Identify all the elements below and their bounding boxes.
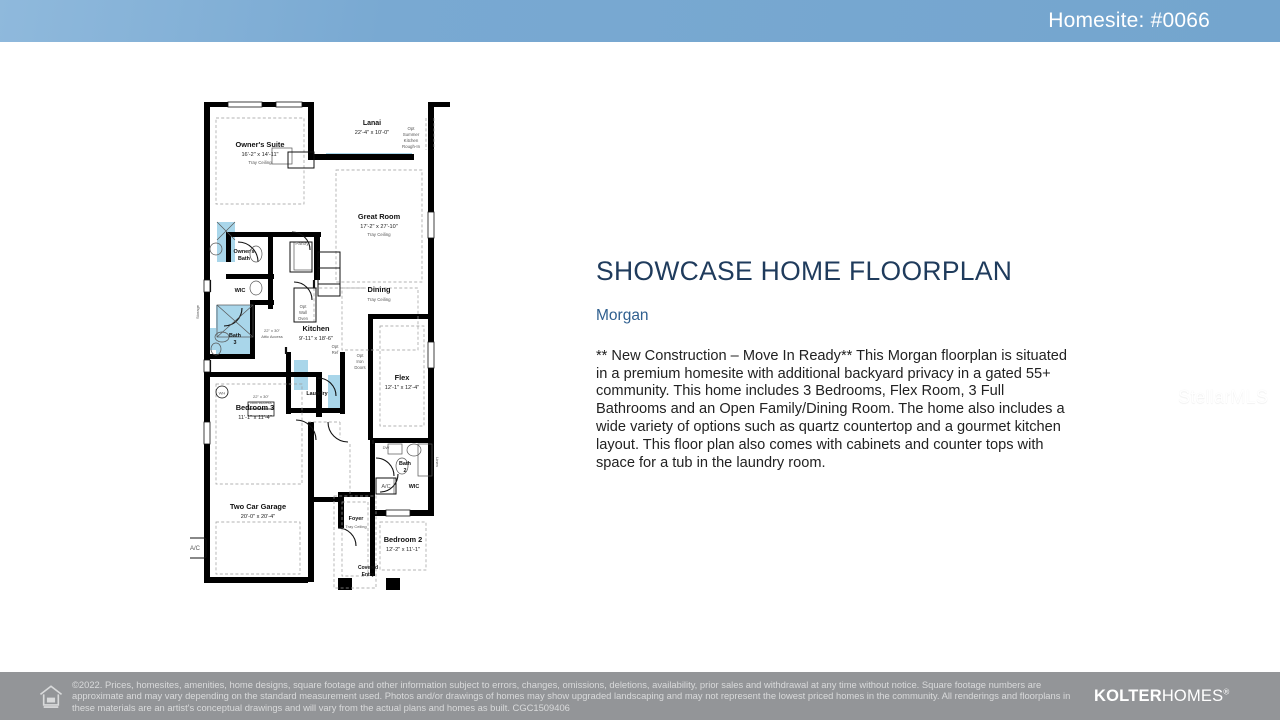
linen-label: Linen bbox=[435, 457, 440, 467]
kolter-homes-logo: KOLTERHOMES® bbox=[1094, 687, 1229, 706]
opt-iron-doors-line1: Opt bbox=[357, 353, 365, 358]
footer-bar: ©2022. Prices, homesites, amenities, hom… bbox=[0, 672, 1280, 720]
room-label-bath2-line1: Bath bbox=[399, 461, 411, 467]
opt-iron-doors-line2: Iron bbox=[356, 359, 364, 364]
room-label-flex: Flex bbox=[395, 373, 411, 382]
room-label-kitchen: Kitchen bbox=[302, 324, 330, 333]
floorplan-info-panel: SHOWCASE HOME FLOORPLAN Morgan ** New Co… bbox=[596, 257, 1086, 472]
room-label-two-car-garage: Two Car Garage bbox=[230, 502, 286, 511]
dw-label: DW bbox=[383, 445, 390, 450]
opt-wall-oven-line1: Opt bbox=[300, 304, 308, 309]
slide-stage: WH A/C A/C Owner's Suite 16'-2" x 14'-11… bbox=[0, 42, 1280, 672]
room-label-bath2-line2: 2 bbox=[404, 468, 407, 474]
opt-wall-oven-line3: Oven bbox=[298, 316, 309, 321]
room-label-foyer: Foyer bbox=[349, 516, 365, 522]
room-label-lanai: Lanai bbox=[363, 120, 381, 127]
page-title: SHOWCASE HOME FLOORPLAN bbox=[596, 257, 1086, 286]
floorplan-image[interactable]: WH A/C A/C Owner's Suite 16'-2" x 14'-11… bbox=[190, 92, 490, 597]
room-label-wic-bedroom2: WIC bbox=[409, 484, 420, 490]
opt-wall-oven-line2: Wall bbox=[299, 310, 307, 315]
covered-entry-line1: Covered bbox=[358, 565, 378, 571]
room-label-owners-bath-line2: Bath bbox=[238, 256, 250, 262]
opt-iron-doors-line3: Doors bbox=[354, 365, 365, 370]
opt-summer-kitchen-line3: Kitchen bbox=[404, 138, 419, 143]
room-label-dining: Dining bbox=[368, 285, 391, 294]
opt-ref-line1: Opt bbox=[332, 344, 340, 349]
opt-summer-kitchen-line2: Summer bbox=[403, 132, 420, 137]
ac-closet-label: A/C bbox=[381, 484, 390, 490]
room-label-laundry: Laundry bbox=[306, 391, 327, 397]
room-dim-kitchen: 9'-11" x 18'-6" bbox=[299, 336, 333, 342]
room-note-dining: Tray Ceiling bbox=[367, 297, 391, 302]
plan-description: ** New Construction – Move In Ready** Th… bbox=[596, 348, 1078, 473]
equal-housing-opportunity-icon bbox=[38, 683, 64, 709]
room-label-wic-owner: WIC bbox=[235, 288, 246, 294]
room-label-bath3-line2: 3 bbox=[234, 340, 237, 346]
room-dim-flex: 12'-1" x 12'-4" bbox=[385, 385, 419, 391]
storage-label: Storage bbox=[195, 304, 200, 319]
opt-summer-kitchen-line4: Rough-In bbox=[402, 144, 421, 149]
room-dim-great-room: 17'-2" x 27'-10" bbox=[360, 224, 398, 230]
garage-attic-line2: Attic Access bbox=[250, 400, 272, 405]
covered-entry-line2: Entry bbox=[362, 572, 375, 578]
room-note-great-room: Tray Ceiling bbox=[367, 232, 391, 237]
opt-ref-line2: Ref bbox=[332, 350, 339, 355]
logo-trademark-symbol: ® bbox=[1223, 687, 1229, 696]
legal-disclaimer: ©2022. Prices, homesites, amenities, hom… bbox=[72, 679, 1092, 713]
room-dim-two-car-garage: 20'-0" x 20'-4" bbox=[241, 514, 275, 520]
garage-attic-line1: 22" x 30" bbox=[253, 394, 270, 399]
ac-pad-label: A/C bbox=[190, 546, 201, 552]
room-label-bedroom-2: Bedroom 2 bbox=[384, 535, 423, 544]
opt-summer-kitchen-line1: Opt bbox=[407, 126, 415, 131]
plan-name-subtitle: Morgan bbox=[596, 307, 1086, 326]
room-label-owners-bath-line1: Owner's bbox=[233, 249, 254, 255]
room-label-owners-suite: Owner's Suite bbox=[236, 140, 285, 149]
logo-kolter-text: KOLTER bbox=[1094, 687, 1162, 705]
attic-access-line1: 22" x 30" bbox=[264, 328, 281, 333]
room-label-great-room: Great Room bbox=[358, 212, 401, 221]
homesite-label: Homesite: #0066 bbox=[1048, 9, 1280, 33]
room-label-pantry: Pantry bbox=[295, 241, 309, 246]
room-note-owners-suite: Tray Ceiling bbox=[248, 160, 272, 165]
header-bar: Homesite: #0066 bbox=[0, 0, 1280, 42]
logo-homes-text: HOMES bbox=[1162, 687, 1224, 705]
room-label-bath3-line1: Bath bbox=[229, 333, 241, 339]
room-dim-lanai: 22'-4" x 10'-0" bbox=[355, 130, 389, 136]
stellar-mls-watermark: StellarMLS bbox=[1178, 387, 1268, 408]
room-dim-bedroom-3: 11'-1" x 11'-4" bbox=[238, 415, 272, 421]
room-dim-owners-suite: 16'-2" x 14'-11" bbox=[241, 152, 278, 158]
wh-label: WH bbox=[219, 391, 226, 396]
room-dim-bedroom-2: 12'-2" x 11'-1" bbox=[386, 547, 420, 553]
attic-access-line2: Attic Access bbox=[261, 334, 283, 339]
room-note-foyer: Tray Ceiling bbox=[345, 524, 366, 529]
